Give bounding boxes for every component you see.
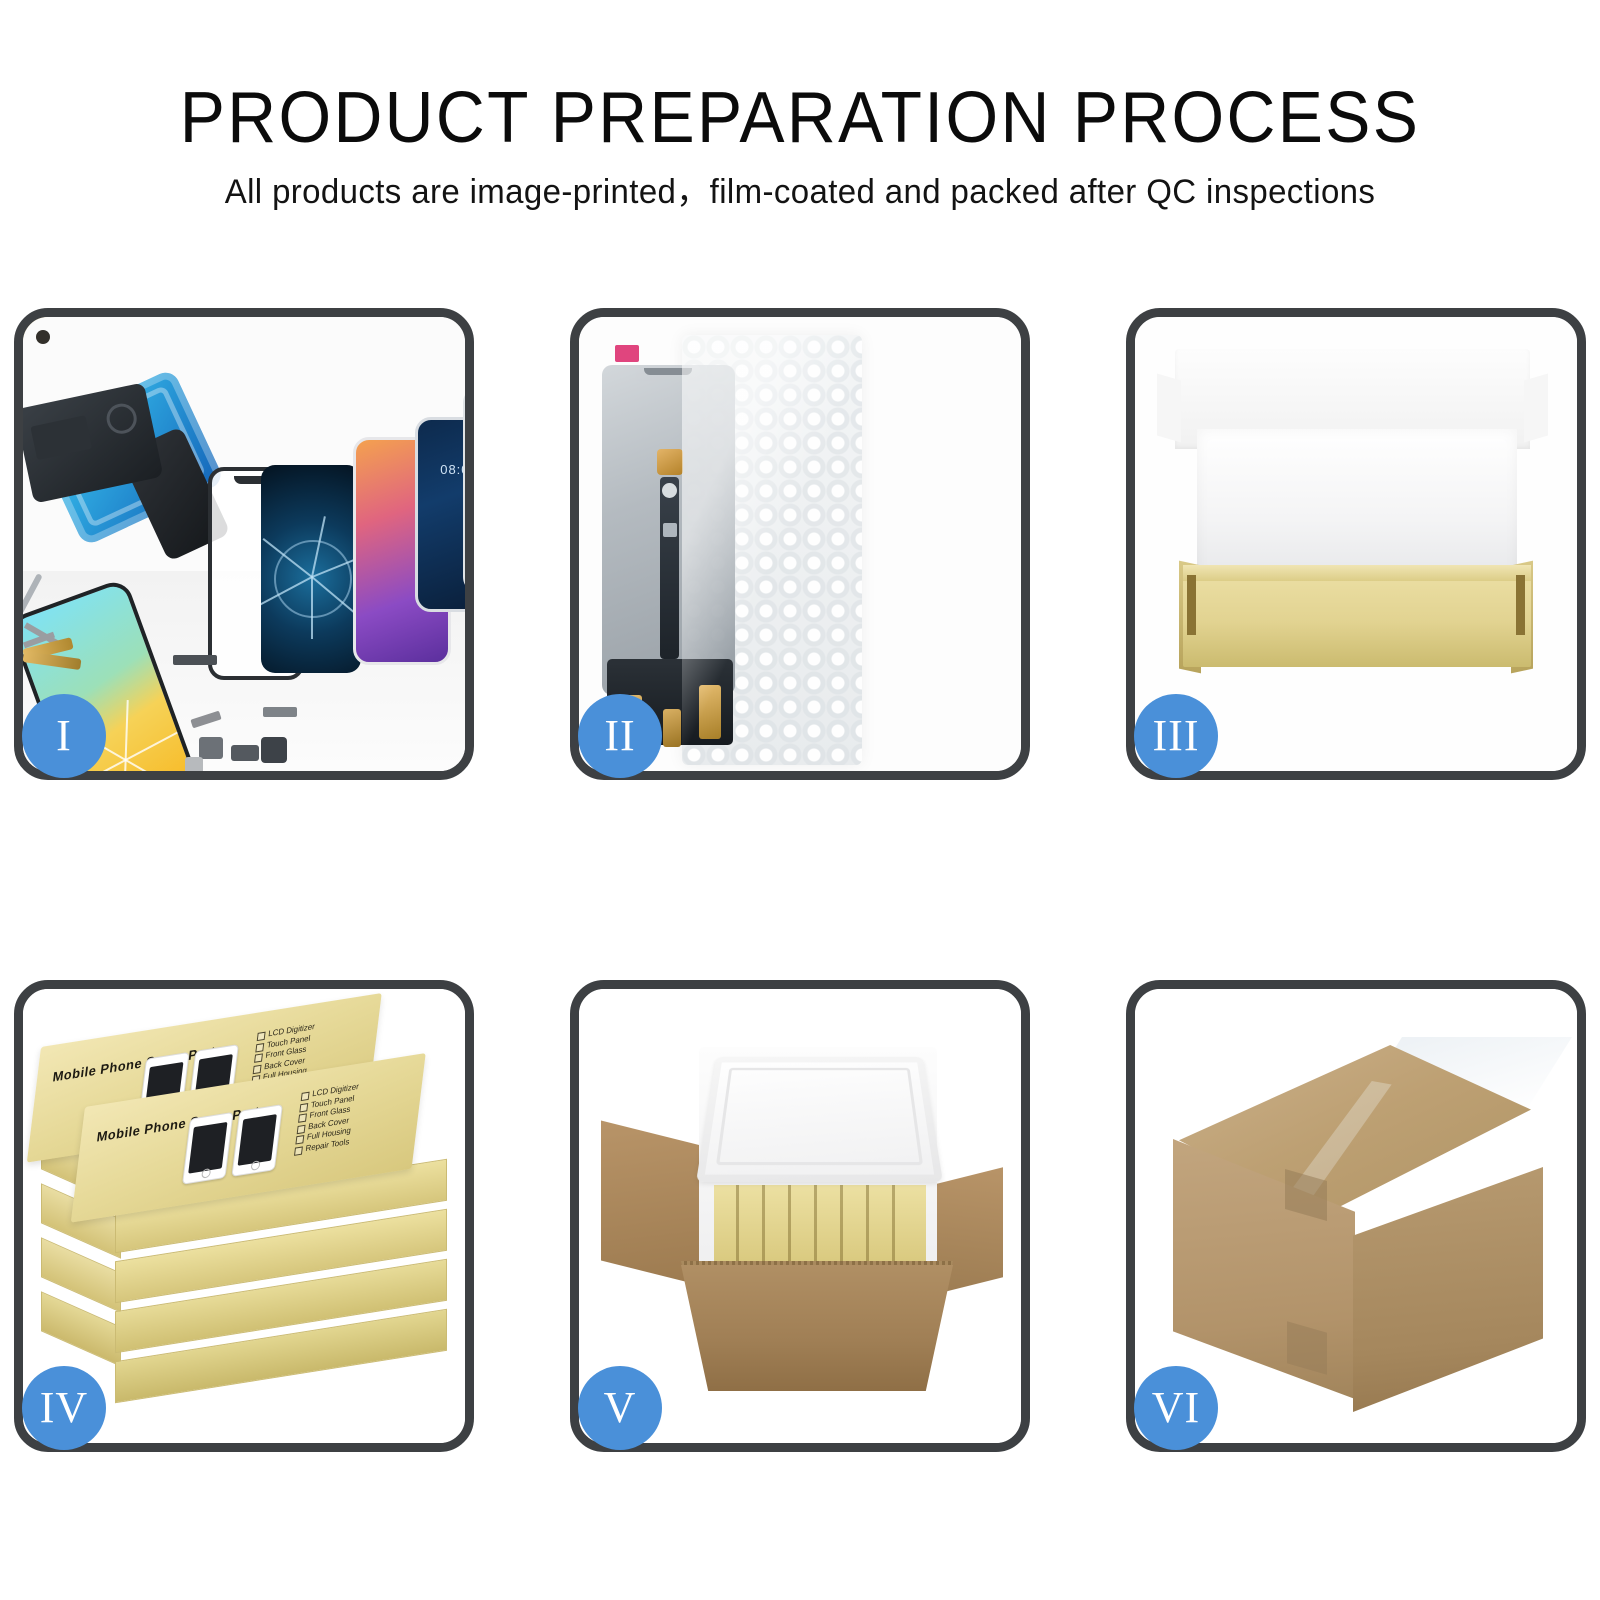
speaker-part-graphic	[261, 737, 287, 763]
flex-cable-graphic	[173, 655, 217, 665]
step-badge-4: IV	[22, 1366, 106, 1450]
foam-lid-graphic	[696, 1057, 943, 1182]
white-foam-sheet-graphic	[1197, 429, 1517, 579]
connector-graphic	[663, 523, 677, 537]
cracked-screen-graphic	[261, 465, 361, 673]
box-phone-image	[182, 1112, 234, 1185]
small-part-graphic	[263, 707, 297, 717]
process-step-grid: 08:08 I	[0, 0, 1600, 1600]
carton-front-graphic	[681, 1265, 953, 1391]
gold-box-lip-graphic	[1183, 565, 1531, 581]
teal-phone-graphic	[463, 387, 465, 593]
step-badge-2: II	[578, 694, 662, 778]
step-badge-5: V	[578, 1366, 662, 1450]
gold-boxes-inside-graphic	[714, 1185, 926, 1265]
small-part-graphic	[199, 737, 223, 759]
box-checklist: LCD Digitizer Touch Panel Front Glass Ba…	[294, 1082, 359, 1156]
step-badge-6: VI	[1134, 1366, 1218, 1450]
sim-tray-graphic	[185, 757, 203, 771]
step-badge-1: I	[22, 694, 106, 778]
gold-contact-graphic	[699, 685, 721, 739]
step-badge-3: III	[1134, 694, 1218, 778]
small-part-graphic	[231, 745, 259, 761]
box-inner-edge-graphic	[1516, 575, 1525, 635]
flex-cable-graphic	[660, 477, 679, 659]
box-phone-image	[231, 1104, 283, 1177]
pink-qc-label-graphic	[615, 345, 639, 362]
blue-phone-graphic: 08:08	[415, 417, 465, 612]
box-inner-edge-graphic	[1187, 575, 1196, 635]
gold-contact-graphic	[663, 709, 681, 747]
gold-box-front-graphic	[1183, 567, 1531, 667]
